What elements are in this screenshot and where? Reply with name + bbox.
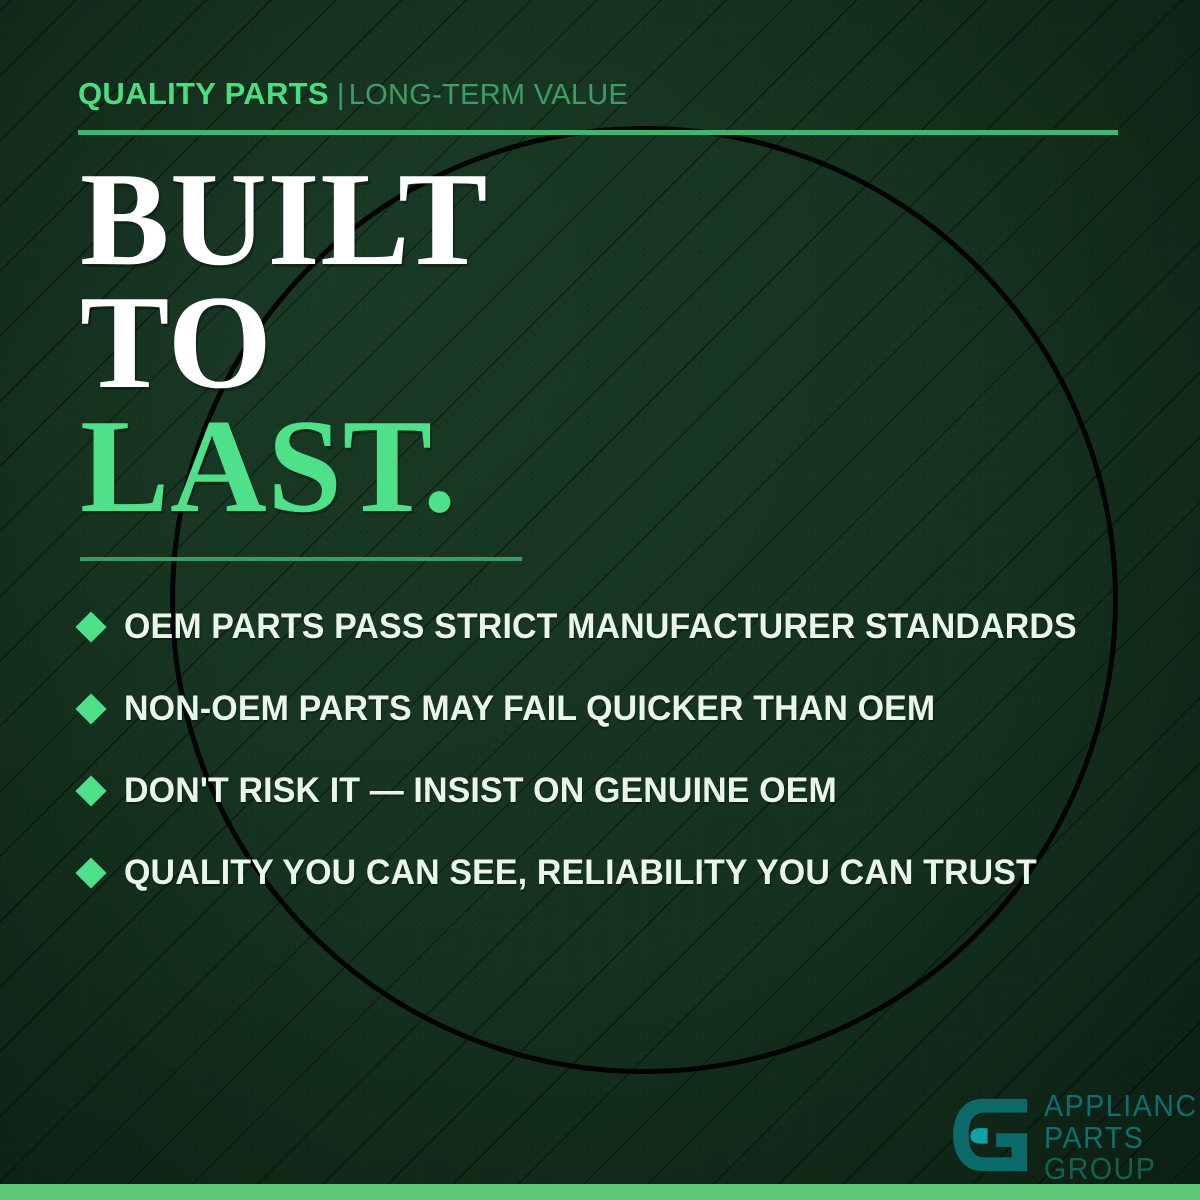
g-monogram-icon	[948, 1092, 1034, 1178]
brand-logo-line-1: APPLIANCE	[1044, 1090, 1200, 1122]
headline-line-3: LAST.	[80, 405, 488, 528]
bullet-list: OEM PARTS PASS STRICT MANUFACTURER STAND…	[80, 586, 1140, 914]
diamond-bullet-icon	[75, 611, 106, 642]
diamond-bullet-icon	[75, 693, 106, 724]
header-divider-rule	[78, 130, 1118, 135]
kicker-line: QUALITY PARTS|LONG-TERM VALUE	[78, 76, 628, 112]
diamond-bullet-icon	[75, 857, 106, 888]
list-item-label: QUALITY YOU CAN SEE, RELIABILITY YOU CAN…	[124, 853, 1037, 893]
headline-divider-rule	[80, 557, 522, 561]
brand-logo-line-2: PARTS	[1044, 1122, 1200, 1154]
brand-logo: APPLIANCE PARTS GROUP	[948, 1088, 1200, 1185]
kicker-sub-label: LONG-TERM VALUE	[349, 79, 628, 111]
poster-canvas: QUALITY PARTS|LONG-TERM VALUE BUILT TO L…	[0, 0, 1200, 1200]
brand-logo-wordmark: APPLIANCE PARTS GROUP	[1044, 1088, 1200, 1185]
headline-line-2: TO	[80, 281, 488, 404]
list-item-label: NON-OEM PARTS MAY FAIL QUICKER THAN OEM	[124, 689, 935, 729]
headline-line-1: BUILT	[80, 158, 488, 281]
poster-content: QUALITY PARTS|LONG-TERM VALUE BUILT TO L…	[0, 0, 1200, 1200]
list-item: QUALITY YOU CAN SEE, RELIABILITY YOU CAN…	[80, 832, 1140, 914]
brand-logo-line-3: GROUP	[1044, 1153, 1200, 1185]
list-item: DON'T RISK IT — INSIST ON GENUINE OEM	[80, 750, 1140, 832]
list-item: NON-OEM PARTS MAY FAIL QUICKER THAN OEM	[80, 668, 1140, 750]
list-item-label: DON'T RISK IT — INSIST ON GENUINE OEM	[124, 771, 837, 811]
kicker-separator: |	[337, 79, 345, 111]
kicker-main-label: QUALITY PARTS	[78, 76, 329, 111]
bottom-accent-bar	[0, 1184, 1200, 1200]
headline: BUILT TO LAST.	[80, 158, 488, 528]
diamond-bullet-icon	[75, 775, 106, 806]
list-item: OEM PARTS PASS STRICT MANUFACTURER STAND…	[80, 586, 1140, 668]
list-item-label: OEM PARTS PASS STRICT MANUFACTURER STAND…	[124, 607, 1077, 647]
